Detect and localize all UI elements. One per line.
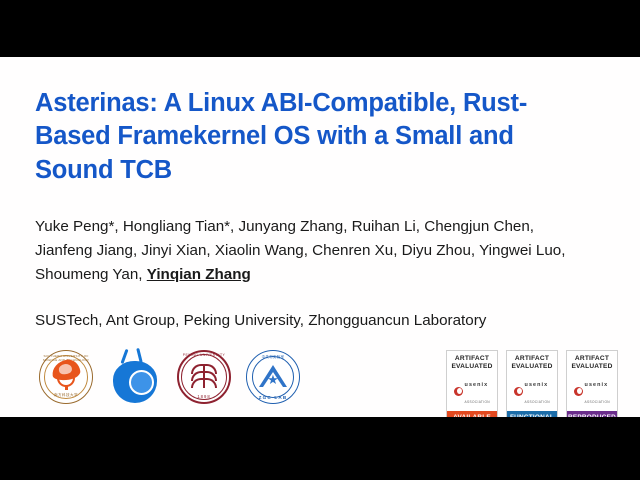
usenix-association: ASSOCIATION <box>465 400 490 404</box>
sustech-bottom-text: 南方科技大学 <box>36 393 96 398</box>
badge-line1: ARTIFACT <box>569 355 615 363</box>
peking-university-logo: PEKING UNIVERSITY 1898 <box>174 347 234 407</box>
affiliation-list: SUSTech, Ant Group, Peking University, Z… <box>35 310 595 333</box>
institution-logo-row: SOUTHERN UNIVERSITY OF SCIENCE AND TECHN… <box>36 347 303 407</box>
author-list: Yuke Peng*, Hongliang Tian*, Junyang Zha… <box>35 215 595 287</box>
usenix-association: ASSOCIATION <box>525 400 550 404</box>
zgc-star-icon: ★ <box>267 374 279 386</box>
presentation-slide: Asterinas: A Linux ABI-Compatible, Rust-… <box>0 57 640 417</box>
badge-line2: EVALUATED <box>569 363 615 371</box>
artifact-available-badge: ARTIFACT EVALUATED usenix ASSOCIATION AV… <box>446 350 498 417</box>
usenix-association: ASSOCIATION <box>585 400 610 404</box>
artifact-functional-badge: ARTIFACT EVALUATED usenix ASSOCIATION FU… <box>506 350 558 417</box>
pku-emblem-stem <box>203 364 206 388</box>
usenix-wordmark: usenix ASSOCIATION <box>525 374 550 408</box>
usenix-mark-icon <box>514 387 523 396</box>
letterbox-bottom <box>0 417 640 480</box>
usenix-mark-icon <box>454 387 463 396</box>
author-list-names: Yuke Peng*, Hongliang Tian*, Junyang Zha… <box>35 218 565 283</box>
usenix-wordmark: usenix ASSOCIATION <box>465 374 490 408</box>
badge-line1: ARTIFACT <box>509 355 555 363</box>
usenix-wordmark: usenix ASSOCIATION <box>585 374 610 408</box>
usenix-name: usenix <box>465 382 489 388</box>
usenix-logo: usenix ASSOCIATION <box>509 374 555 408</box>
usenix-mark-icon <box>574 387 583 396</box>
page-title: Asterinas: A Linux ABI-Compatible, Rust-… <box>35 87 580 187</box>
usenix-name: usenix <box>525 382 549 388</box>
badge-line2: EVALUATED <box>509 363 555 371</box>
zgc-lab-logo: 中关村实验室 ★ ZGC LAB <box>243 347 303 407</box>
ant-group-logo <box>105 347 165 407</box>
badge-status-tag: AVAILABLE <box>447 411 497 417</box>
sustech-stem-icon <box>65 385 68 390</box>
badge-status-tag: REPRODUCED <box>567 411 617 417</box>
usenix-logo: usenix ASSOCIATION <box>569 374 615 408</box>
pku-year-text: 1898 <box>174 394 234 399</box>
video-player-stage: Asterinas: A Linux ABI-Compatible, Rust-… <box>0 0 640 480</box>
pku-top-text: PEKING UNIVERSITY <box>174 353 234 357</box>
ant-ring-icon <box>129 370 154 395</box>
badge-status-tag: FUNCTIONAL <box>507 411 557 417</box>
badge-line1: ARTIFACT <box>449 355 495 363</box>
letterbox-top <box>0 0 640 57</box>
sustech-logo: SOUTHERN UNIVERSITY OF SCIENCE AND TECHN… <box>36 347 96 407</box>
artifact-badge-row: ARTIFACT EVALUATED usenix ASSOCIATION AV… <box>446 350 618 417</box>
zgc-bottom-text: ZGC LAB <box>243 395 303 400</box>
author-highlighted: Yinqian Zhang <box>147 266 251 283</box>
zgc-top-text: 中关村实验室 <box>243 354 303 359</box>
usenix-logo: usenix ASSOCIATION <box>449 374 495 408</box>
usenix-name: usenix <box>585 382 609 388</box>
badge-line2: EVALUATED <box>449 363 495 371</box>
artifact-reproduced-badge: ARTIFACT EVALUATED usenix ASSOCIATION RE… <box>566 350 618 417</box>
